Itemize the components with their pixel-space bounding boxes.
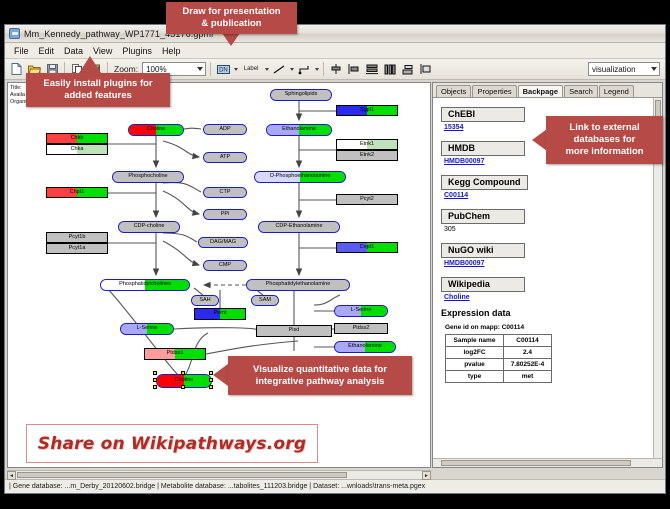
callout-visualize: Visualize quantitative data for integrat…: [228, 356, 412, 395]
node-label: Ptdss1: [167, 351, 184, 357]
pathway-node-sah[interactable]: SAH: [191, 295, 219, 306]
node-label: CDP-Ethanolamine: [275, 224, 322, 230]
table-row: typemet: [446, 371, 552, 383]
expression-table: Sample nameC00114log2FC2.4pvalue7.80252E…: [445, 334, 552, 383]
pathway-node-sam[interactable]: SAM: [251, 295, 279, 306]
menu-item-plugins[interactable]: Plugins: [117, 45, 157, 57]
menu-item-help[interactable]: Help: [157, 45, 186, 57]
pathway-node-sphingolipids[interactable]: Sphingolipids: [270, 89, 332, 101]
pathway-node-pcyt2[interactable]: Pcyt2: [336, 194, 398, 205]
node-label: Pcyt2: [360, 197, 374, 203]
menu-item-edit[interactable]: Edit: [34, 45, 60, 57]
node-label: Ethanolamine: [348, 344, 382, 350]
selection-handle[interactable]: [153, 371, 157, 375]
pathway-node-cept1[interactable]: Cept1: [336, 242, 398, 253]
expr-key: type: [446, 371, 504, 383]
chevron-down-icon[interactable]: [234, 68, 238, 71]
pathway-node-cdp-ethanolamine[interactable]: CDP-Ethanolamine: [258, 221, 340, 233]
db-link-kegg-compound[interactable]: C00114: [444, 192, 645, 199]
db-header-hmdb: HMDB: [441, 141, 525, 156]
node-label: Ptdss2: [353, 326, 370, 332]
screenshot-root: Mm_Kennedy_pathway_WP1771_45176.gpml Fil…: [0, 0, 670, 509]
expression-data-heading: Expression data: [441, 308, 662, 318]
node-label: Pisd: [289, 328, 300, 334]
pathway-node-l-serine-right[interactable]: L-Serine: [334, 305, 388, 317]
selection-handle[interactable]: [181, 385, 185, 389]
expr-key: Sample name: [446, 335, 504, 347]
expr-key: log2FC: [446, 347, 504, 359]
callout-draw-arrow-icon: [222, 33, 240, 46]
node-label: Pemt: [214, 311, 227, 317]
callout-draw: Draw for presentation & publication: [166, 2, 297, 34]
pathway-node-pcyt1b[interactable]: Pcyt1b: [46, 232, 108, 243]
node-label: Etnk1: [360, 142, 374, 148]
expr-value: 2.4: [504, 347, 552, 359]
menu-item-view[interactable]: View: [88, 45, 117, 57]
pathvisio-icon: [9, 28, 20, 39]
callout-plugins-line1: Easily install plugins for: [43, 78, 152, 90]
table-row: log2FC2.4: [446, 347, 552, 359]
title-bar: Mm_Kennedy_pathway_WP1771_45176.gpml: [5, 25, 665, 43]
scroll-left-arrow[interactable]: ◄: [7, 471, 16, 480]
node-label: Chka: [71, 147, 84, 153]
pathway-node-etnk1[interactable]: Etnk1: [336, 139, 398, 150]
pathway-node-sgpl1[interactable]: Sgpl1: [336, 105, 398, 116]
chevron-down-icon: [197, 67, 203, 71]
callout-link-databases: Link to external databases for more info…: [546, 116, 663, 164]
pathway-node-dagmag[interactable]: DAG/MAG: [198, 237, 248, 248]
pathway-node-adp[interactable]: ADP: [203, 124, 247, 135]
pathway-node-ppi[interactable]: PPi: [203, 209, 247, 220]
menu-item-data[interactable]: Data: [59, 45, 88, 57]
db-header-kegg-compound: Kegg Compound: [441, 175, 528, 190]
node-label: Choline: [147, 127, 166, 133]
pathway-node-pemt[interactable]: Pemt: [194, 308, 246, 320]
toolbar-separator: [210, 62, 211, 76]
pathway-node-ptdss1[interactable]: Ptdss1: [144, 348, 206, 360]
label-tool-text: Label: [244, 66, 259, 72]
status-bar: | Gene database: ...m_Derby_20120602.bri…: [5, 479, 665, 493]
db-link-nugo-wiki[interactable]: HMDB00097: [444, 260, 645, 267]
node-label: CDP-choline: [134, 224, 165, 230]
callout-link-arrow-icon: [532, 129, 547, 151]
share-banner: Share on Wikipathways.org: [26, 424, 318, 463]
canvas-horizontal-scrollbar[interactable]: ◄ ►: [7, 470, 431, 479]
scrollbar-thumb[interactable]: [17, 472, 347, 478]
chevron-down-icon[interactable]: [290, 68, 294, 71]
table-row: Sample nameC00114: [446, 335, 552, 347]
pathway-node-l-serine-left[interactable]: L-Serine: [120, 323, 174, 335]
callout-draw-line1: Draw for presentation: [182, 6, 280, 18]
callout-draw-line2: & publication: [201, 18, 261, 30]
chevron-down-icon[interactable]: [265, 68, 269, 71]
node-label: CMP: [219, 263, 231, 269]
toolbar-separator: [323, 62, 324, 76]
selection-handle[interactable]: [153, 385, 157, 389]
expr-value: 7.80252E-4: [504, 359, 552, 371]
gene-id-line: Gene id on mapp: C00114: [445, 324, 662, 331]
callout-link-line1: Link to external: [569, 122, 639, 134]
pathway-canvas[interactable]: Title: Availa Organi: [7, 82, 431, 468]
pathway-node-cdp-choline[interactable]: CDP-choline: [118, 221, 180, 233]
pathway-node-ctp[interactable]: CTP: [203, 187, 247, 198]
pathway-node-ethanolamine-2[interactable]: Ethanolamine: [334, 341, 396, 353]
stack-center-icon[interactable]: [364, 61, 380, 77]
pathway-node-pisd[interactable]: Pisd: [256, 325, 332, 337]
distribute-icon[interactable]: [382, 61, 398, 77]
chevron-down-icon[interactable]: [315, 68, 319, 71]
pathway-node-etnk2[interactable]: Etnk2: [336, 150, 398, 161]
line-icon[interactable]: [271, 61, 287, 77]
db-link-wikipedia[interactable]: Choline: [444, 294, 645, 301]
db-header-chebi: ChEBI: [441, 107, 525, 122]
new-file-icon[interactable]: [8, 61, 24, 77]
menu-bar: File Edit Data View Plugins Help: [5, 43, 665, 59]
pathway-node-chpt1[interactable]: Chpt1: [46, 187, 108, 198]
pathway-node-phosphocholine[interactable]: Phosphocholine: [112, 171, 184, 183]
menu-item-file[interactable]: File: [9, 45, 34, 57]
chevron-down-icon: [651, 67, 657, 71]
share-banner-text: Share on Wikipathways.org: [38, 434, 306, 454]
callout-visualize-arrow-icon: [213, 364, 228, 386]
pathway-node-atp[interactable]: ATP: [203, 152, 247, 163]
db-value-pubchem: 305: [444, 226, 645, 233]
node-label: ATP: [220, 155, 230, 161]
scroll-right-arrow[interactable]: ►: [422, 471, 431, 480]
pathway-node-chka[interactable]: Chka: [46, 144, 108, 155]
table-row: pvalue7.80252E-4: [446, 359, 552, 371]
node-fill-right: [294, 326, 331, 336]
pathway-node-cmp[interactable]: CMP: [203, 260, 247, 271]
selection-handle[interactable]: [181, 371, 185, 375]
pathway-node-phosphatidylethanolamine[interactable]: Phosphatidylethanolamine: [246, 279, 350, 291]
node-label: Phosphocholine: [128, 174, 167, 180]
node-label: CTP: [220, 190, 231, 196]
tab-legend[interactable]: Legend: [599, 85, 634, 97]
align-top-icon[interactable]: [328, 61, 344, 77]
db-header-pubchem: PubChem: [441, 209, 525, 224]
pathway-node-pcyt1a[interactable]: Pcyt1a: [46, 243, 108, 254]
node-label: SAM: [259, 298, 271, 304]
node-label: Pcyt1a: [69, 246, 86, 252]
pathway-node-ethanolamine[interactable]: Ethanolamine: [266, 124, 332, 136]
pathway-node-ptdss2[interactable]: Ptdss2: [334, 323, 388, 334]
node-label: Phosphatidylcholines: [119, 282, 171, 288]
expr-value: met: [504, 371, 552, 383]
svg-text:DN: DN: [219, 67, 228, 73]
node-label: SAH: [199, 298, 210, 304]
tab-objects[interactable]: Objects: [436, 85, 471, 97]
node-label: Pcyt1b: [69, 235, 86, 241]
callout-plugins-arrow-icon: [79, 56, 101, 73]
callout-plugins-line2: added features: [64, 90, 132, 102]
node-label: Phosphatidylethanolamine: [266, 282, 331, 288]
pathway-node-choline[interactable]: Choline: [128, 124, 184, 136]
db-header-nugo-wiki: NuGO wiki: [441, 243, 525, 258]
node-label: Chkb: [71, 136, 84, 142]
side-horizontal-scrollbar[interactable]: [433, 458, 662, 467]
visualization-combo[interactable]: visualization: [588, 62, 660, 76]
node-label: L-Serine: [351, 308, 372, 314]
node-label: Sgpl1: [360, 108, 374, 114]
status-text: | Gene database: ...m_Derby_20120602.bri…: [9, 483, 425, 490]
scrollbar-thumb[interactable]: [441, 460, 631, 466]
pathway-node-chkb[interactable]: Chkb: [46, 133, 108, 144]
expr-value: C00114: [504, 335, 552, 347]
node-label: Chpt1: [70, 190, 85, 196]
selection-handle[interactable]: [153, 378, 157, 382]
node-label: Ethanolamine: [282, 127, 316, 133]
align-left-icon[interactable]: [346, 61, 362, 77]
callout-visualize-line2: integrative pathway analysis: [256, 376, 385, 388]
node-label: O-Phosphoethanolamine: [270, 174, 331, 180]
side-tabs: Objects Properties Backpage Search Legen…: [433, 83, 662, 98]
label-tool-button[interactable]: Label: [240, 61, 262, 77]
callout-link-line2: databases for: [574, 134, 636, 146]
callout-link-line3: more information: [565, 146, 643, 158]
group-icon[interactable]: [400, 61, 416, 77]
node-label: ADP: [219, 127, 230, 133]
callout-plugins: Easily install plugins for added feature…: [26, 73, 170, 107]
connector-icon[interactable]: [296, 61, 312, 77]
pathway-node-o-phosphoethanolamine[interactable]: O-Phosphoethanolamine: [254, 171, 346, 183]
db-header-wikipedia: Wikipedia: [441, 277, 525, 292]
node-label: Etnk2: [360, 153, 374, 159]
tab-search[interactable]: Search: [564, 85, 598, 97]
datanode-icon[interactable]: DN: [215, 61, 231, 77]
order-icon[interactable]: [418, 61, 434, 77]
node-label: DAG/MAG: [210, 240, 236, 246]
callout-visualize-line1: Visualize quantitative data for: [253, 364, 387, 376]
tab-properties[interactable]: Properties: [472, 85, 516, 97]
tab-backpage[interactable]: Backpage: [518, 85, 563, 97]
node-label: Sphingolipids: [285, 92, 318, 98]
node-label: PPi: [221, 212, 230, 218]
node-label: Cept1: [360, 245, 375, 251]
node-label: L-Serine: [137, 326, 158, 332]
visualization-value: visualization: [592, 65, 636, 74]
node-label: Choline: [175, 378, 194, 384]
pathway-node-phosphatidylcholines[interactable]: Phosphatidylcholines: [100, 279, 190, 291]
expr-key: pvalue: [446, 359, 504, 371]
